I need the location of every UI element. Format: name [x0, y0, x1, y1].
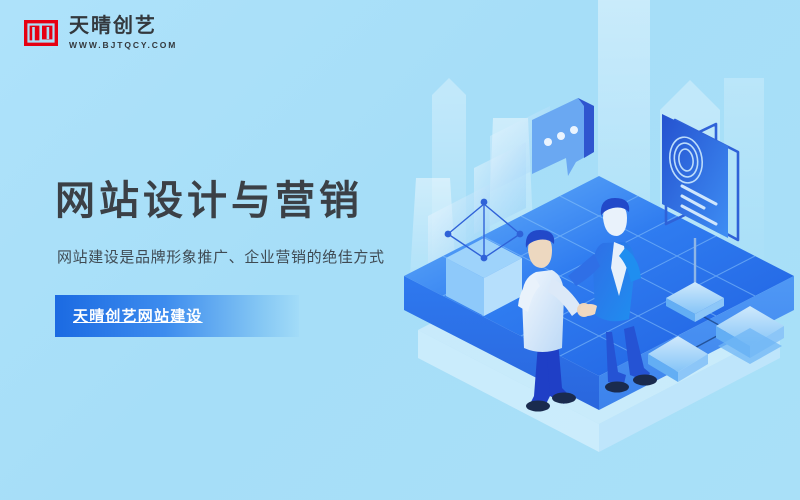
cta-button[interactable]: 天晴创艺网站建设: [55, 295, 299, 337]
handshake: [579, 304, 597, 316]
chat-bubble-icon: [532, 98, 594, 176]
hero-banner: 天晴创艺 WWW.BJTQCY.COM 网站设计与营销 网站建设是品牌形象推广、…: [0, 0, 800, 500]
brand-url: WWW.BJTQCY.COM: [69, 40, 177, 50]
brand-logo[interactable]: 天晴创艺 WWW.BJTQCY.COM: [22, 14, 177, 52]
isometric-handshake-illustration: [398, 58, 800, 500]
tianqing-square-logo-icon: [22, 14, 60, 52]
brand-name: 天晴创艺: [69, 16, 177, 37]
